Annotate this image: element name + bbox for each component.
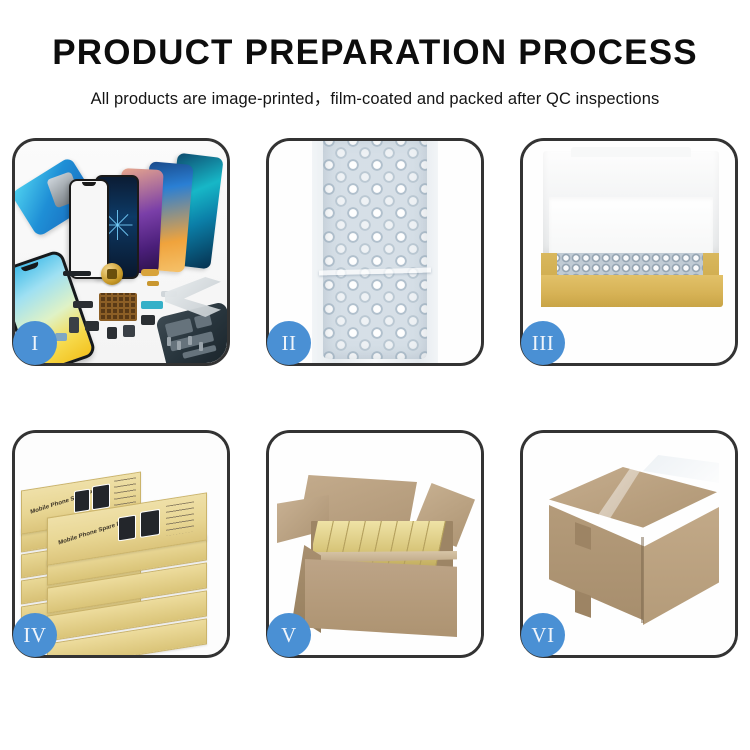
part-connector-icon: [73, 301, 93, 308]
step-badge-4: IV: [13, 613, 57, 657]
part-chip-icon: [141, 315, 155, 325]
box-front-wall: [541, 275, 723, 307]
part-gold-small-icon: [147, 281, 159, 286]
part-gold-icon: [141, 269, 159, 276]
part-block-icon: [85, 321, 99, 331]
step-badge-6: VI: [521, 613, 565, 657]
foam-sheet-icon: [549, 197, 713, 255]
steps-grid: I II III: [12, 138, 738, 686]
carton-front-face: [305, 559, 457, 637]
step-panel-2: II: [266, 138, 484, 366]
box-spec-lines: [166, 501, 194, 535]
box-window-icon: [92, 483, 110, 510]
header: PRODUCT PREPARATION PROCESS All products…: [0, 0, 750, 109]
box-window-icon: [140, 509, 160, 538]
chip-grid-icon: [99, 293, 137, 321]
box-window-icon: [118, 515, 136, 542]
step-panel-4: Mobile Phone Spare Parts Mobile Phone Sp…: [12, 430, 230, 658]
step-badge-1: I: [13, 321, 57, 365]
page-title: PRODUCT PREPARATION PROCESS: [0, 35, 750, 70]
box-stack: Mobile Phone Spare Parts Mobile Phone Sp…: [19, 447, 227, 647]
box-window-icon: [74, 489, 90, 514]
carton-tab-lower: [575, 590, 591, 618]
step-panel-1: I: [12, 138, 230, 366]
step-badge-5: V: [267, 613, 311, 657]
part-flex-cable-icon: [141, 301, 163, 309]
glass-film-icon: [69, 179, 109, 279]
step-badge-3: III: [521, 321, 565, 365]
carton-vertical-edge: [641, 537, 644, 623]
notch-icon: [82, 182, 96, 186]
step-panel-6: VI: [520, 430, 738, 658]
part-strip-icon: [63, 271, 91, 276]
step-badge-2: II: [267, 321, 311, 365]
bubble-wrap-icon: [323, 141, 427, 359]
part-camera-icon: [123, 325, 135, 337]
part-battery-icon: [69, 317, 79, 333]
screws-group-icon: [167, 335, 211, 353]
carton-right-face: [643, 507, 719, 625]
product-preparation-infographic: PRODUCT PREPARATION PROCESS All products…: [0, 0, 750, 750]
phone-fan-group: [67, 155, 227, 285]
step-panel-5: V: [266, 430, 484, 658]
part-small-icon: [107, 327, 117, 339]
page-subtitle: All products are image-printed，film-coat…: [0, 85, 750, 109]
speaker-part-icon: [101, 263, 123, 285]
step-panel-3: III: [520, 138, 738, 366]
